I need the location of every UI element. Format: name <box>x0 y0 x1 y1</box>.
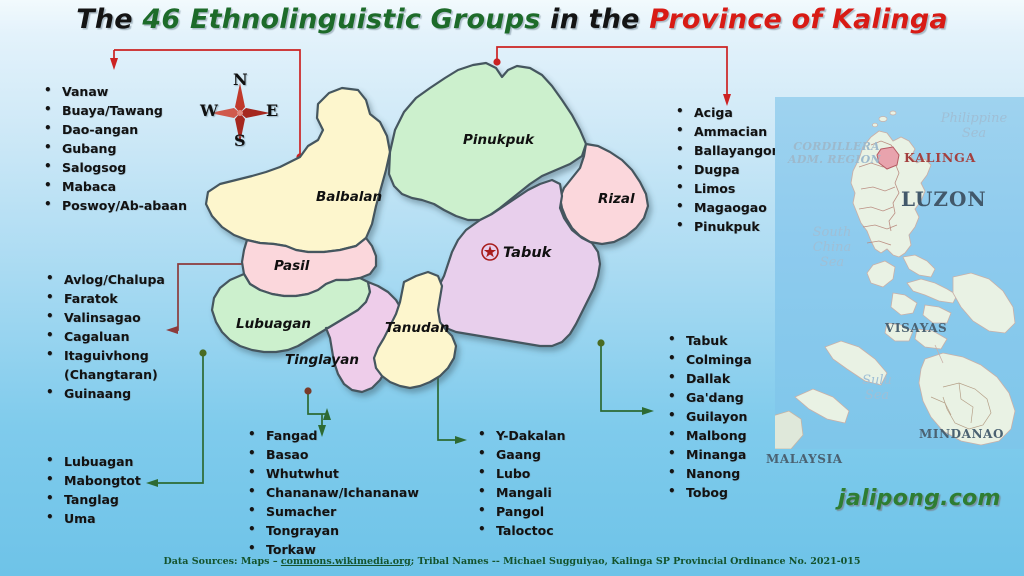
list-item: Avlog/Chalupa <box>38 270 165 289</box>
list-item: Nanong <box>660 464 752 483</box>
list-item: Chananaw/Ichananaw <box>240 483 419 502</box>
list-item: Pinukpuk <box>668 217 781 236</box>
list-item: Tongrayan <box>240 521 419 540</box>
inset-label-philippine-sea: Philippine Sea <box>931 111 1017 141</box>
watermark: jalipong.com <box>838 486 1001 511</box>
list-item: Dugpa <box>668 160 781 179</box>
title-part-province: Province of Kalinga <box>649 4 948 35</box>
list-item: Aciga <box>668 103 781 122</box>
list-item: Itaguivhong <box>38 346 165 365</box>
group-list-lubuagan: Lubuagan Mabongtot Tanglag Uma <box>38 452 141 528</box>
title-part-the: The <box>76 4 142 35</box>
list-item: Pangol <box>470 502 566 521</box>
data-sources-footer: Data Sources: Maps – commons.wikimedia.o… <box>0 556 1024 567</box>
list-item: Taloctoc <box>470 521 566 540</box>
list-item: Basao <box>240 445 419 464</box>
group-list-tabuk: Tabuk Colminga Dallak Ga'dang Guilayon M… <box>660 331 752 502</box>
list-item: Guilayon <box>660 407 752 426</box>
title-part-groups: 46 Ethnolinguistic Groups <box>142 4 540 35</box>
inset-label-cordillera: CORDILLERA ADM. REGION <box>788 140 880 166</box>
list-item: Dao-angan <box>36 120 187 139</box>
list-item: Malbong <box>660 426 752 445</box>
list-item: Vanaw <box>36 82 187 101</box>
list-item: Sumacher <box>240 502 419 521</box>
list-item: Cagaluan <box>38 327 165 346</box>
page-title: The 46 Ethnolinguistic Groups in the Pro… <box>0 4 1024 46</box>
compass-label-south: S <box>234 131 246 150</box>
map-label-tabuk: Tabuk <box>503 245 553 261</box>
list-item: Poswoy/Ab-abaan <box>36 196 187 215</box>
list-item: Uma <box>38 509 141 528</box>
list-item: Tobog <box>660 483 752 502</box>
list-item: Mangali <box>470 483 566 502</box>
inset-label-visayas: VISAYAS <box>885 321 947 335</box>
list-item: Tanglag <box>38 490 141 509</box>
list-item: Whutwhut <box>240 464 419 483</box>
inset-label-mindanao: MINDANAO <box>919 427 1004 441</box>
list-item: Minanga <box>660 445 752 464</box>
list-item: Lubo <box>470 464 566 483</box>
list-item: Ga'dang <box>660 388 752 407</box>
inset-island-malaysia <box>775 411 803 449</box>
group-list-tinglayan: Fangad Basao Whutwhut Chananaw/Ichananaw… <box>240 426 419 559</box>
map-label-balbalan: Balbalan <box>316 189 382 205</box>
list-item: Salogsog <box>36 158 187 177</box>
map-label-tanudan: Tanudan <box>385 320 449 336</box>
philippines-locator-map[interactable]: Philippine Sea CORDILLERA ADM. REGION KA… <box>775 97 1024 449</box>
compass-label-north: N <box>233 70 248 89</box>
list-item: Tabuk <box>660 331 752 350</box>
list-item: Lubuagan <box>38 452 141 471</box>
list-item: Colminga <box>660 350 752 369</box>
group-list-tanudan: Y-Dakalan Gaang Lubo Mangali Pangol Talo… <box>470 426 566 540</box>
group-list-balbalan: Vanaw Buaya/Tawang Dao-angan Gubang Salo… <box>36 82 187 215</box>
list-item: Magaogao <box>668 198 781 217</box>
list-item: Buaya/Tawang <box>36 101 187 120</box>
compass-rose: N S W E <box>198 72 282 154</box>
inset-label-kalinga: KALINGA <box>904 150 976 165</box>
inset-label-malaysia: MALAYSIA <box>766 452 843 466</box>
title-part-inthe: in the <box>541 4 650 35</box>
inset-label-south-china-sea: South China Sea <box>801 225 863 270</box>
list-item: Faratok <box>38 289 165 308</box>
map-label-rizal: Rizal <box>598 191 635 207</box>
list-item: Fangad <box>240 426 419 445</box>
group-list-pasil: Avlog/Chalupa Faratok Valinsagao Cagalua… <box>38 270 165 403</box>
map-label-pinukpuk: Pinukpuk <box>463 132 535 148</box>
list-item: Mabongtot <box>38 471 141 490</box>
list-item: Valinsagao <box>38 308 165 327</box>
list-item: Y-Dakalan <box>470 426 566 445</box>
footer-prefix: Data Sources: Maps – <box>164 556 281 567</box>
map-label-tinglayan: Tinglayan <box>285 352 359 368</box>
map-label-lubuagan: Lubuagan <box>236 316 311 332</box>
inset-label-sulu-sea: Sulu Sea <box>853 373 901 403</box>
list-item: Guinaang <box>38 384 165 403</box>
list-item: Limos <box>668 179 781 198</box>
footer-suffix: ; Tribal Names -- Michael Sugguiyao, Kal… <box>411 556 861 567</box>
list-item: Ballayangon <box>668 141 781 160</box>
list-item: Mabaca <box>36 177 187 196</box>
list-item: Gubang <box>36 139 187 158</box>
list-item: Ammacian <box>668 122 781 141</box>
list-item: Gaang <box>470 445 566 464</box>
infographic-canvas: The 46 Ethnolinguistic Groups in the Pro… <box>0 0 1024 576</box>
list-item-continuation: (Changtaran) <box>38 365 165 384</box>
compass-label-west: W <box>200 101 218 120</box>
footer-source-link[interactable]: commons.wikimedia.org <box>281 556 411 567</box>
list-item: Dallak <box>660 369 752 388</box>
inset-label-luzon: LUZON <box>901 187 987 211</box>
map-label-pasil: Pasil <box>274 258 310 274</box>
compass-label-east: E <box>266 101 278 120</box>
group-list-pinukpuk: Aciga Ammacian Ballayangon Dugpa Limos M… <box>668 103 781 236</box>
